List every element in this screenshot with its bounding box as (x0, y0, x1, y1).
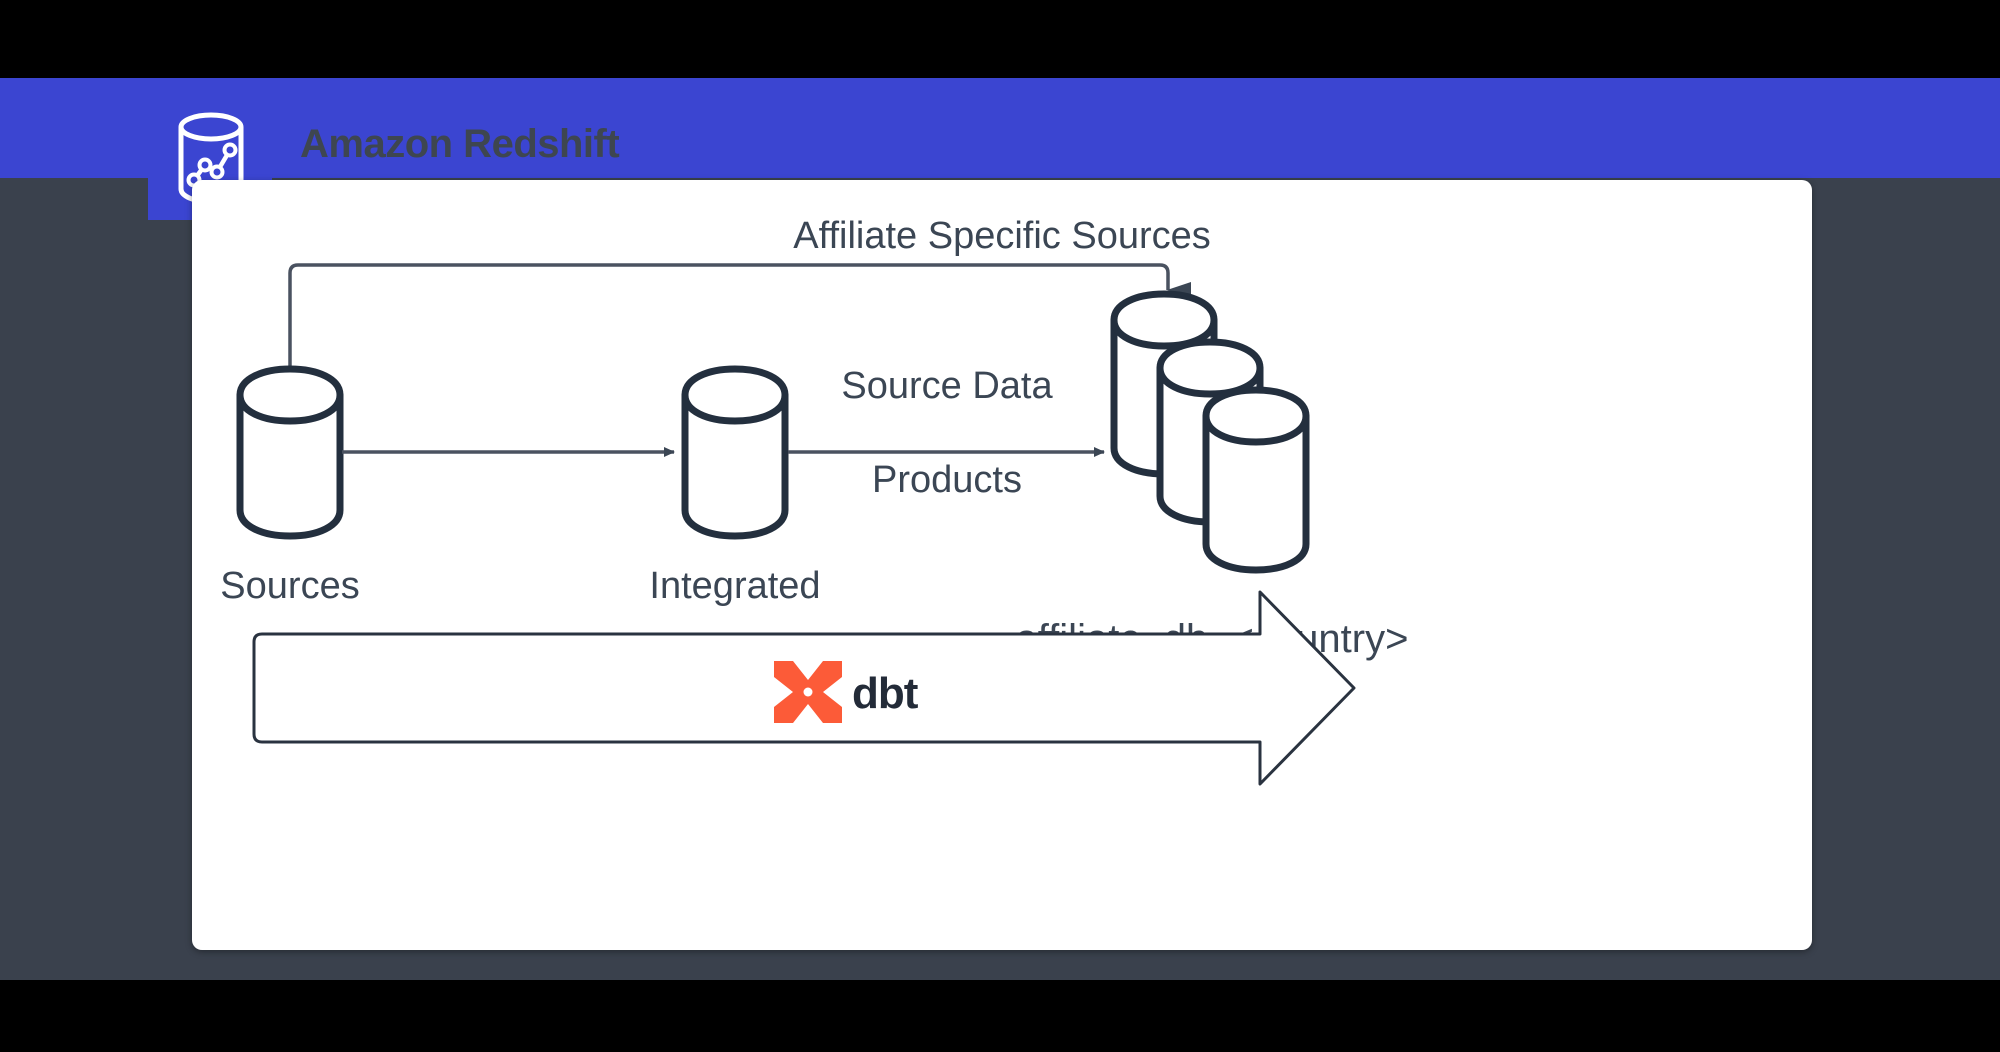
edge-label-source-data: Source Data (841, 365, 1053, 407)
screenshot-root: Amazon Redshift (0, 0, 2000, 1052)
node-label-integrated: Integrated (649, 565, 820, 607)
pipeline-diagram: Affiliate Specific Sources Sources Integ… (192, 180, 1812, 950)
page-title: Amazon Redshift (300, 122, 619, 167)
edge-label-affiliate-specific-sources: Affiliate Specific Sources (793, 215, 1211, 257)
dbt-wordmark: dbt (852, 669, 919, 718)
node-label-sources: Sources (220, 565, 359, 607)
edge-label-products: Products (872, 459, 1022, 501)
letterbox-bottom (0, 980, 2000, 1052)
diagram-card: Affiliate Specific Sources Sources Integ… (192, 180, 1812, 950)
letterbox-top (0, 0, 2000, 78)
node-affiliate-db (1114, 294, 1306, 570)
node-integrated (685, 369, 785, 536)
node-sources (240, 369, 340, 536)
